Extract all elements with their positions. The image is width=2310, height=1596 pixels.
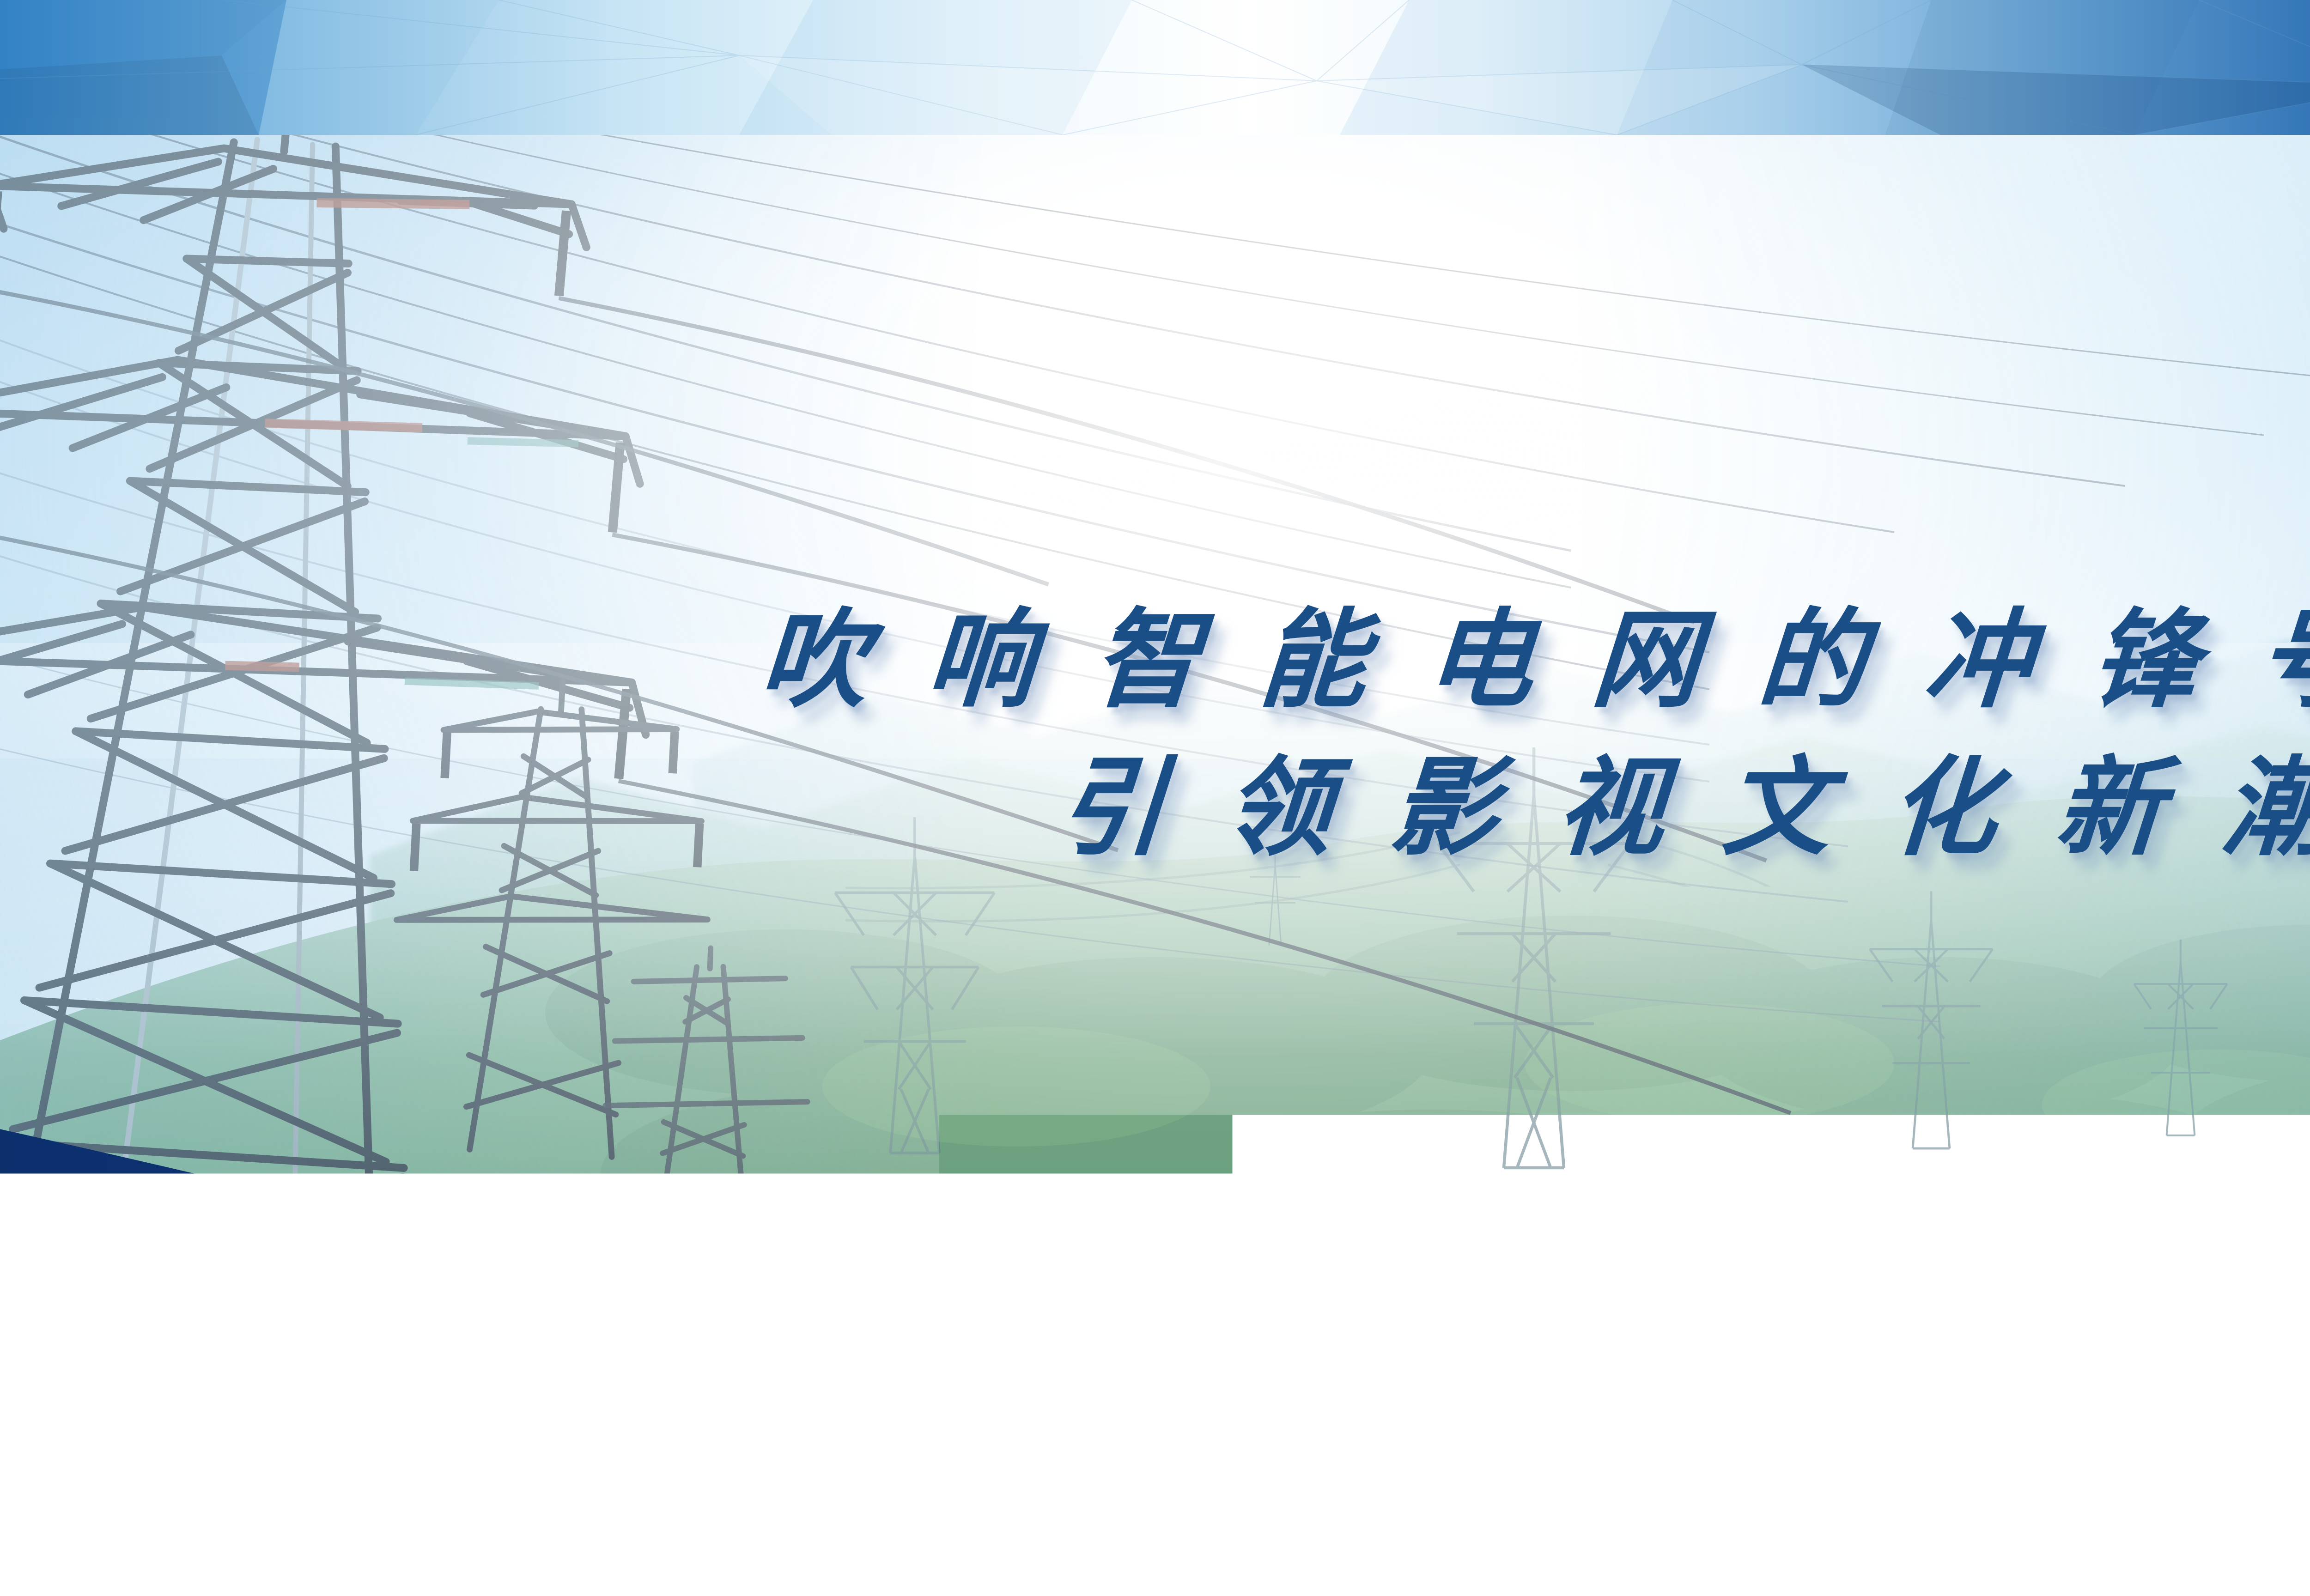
wave-ribbon-icon [0,1109,2310,1596]
poster-canvas: 吹响智能电网的冲锋号 引领影视文化新潮流 [0,0,2310,1596]
wave-ribbon-overlay [0,0,2310,1596]
